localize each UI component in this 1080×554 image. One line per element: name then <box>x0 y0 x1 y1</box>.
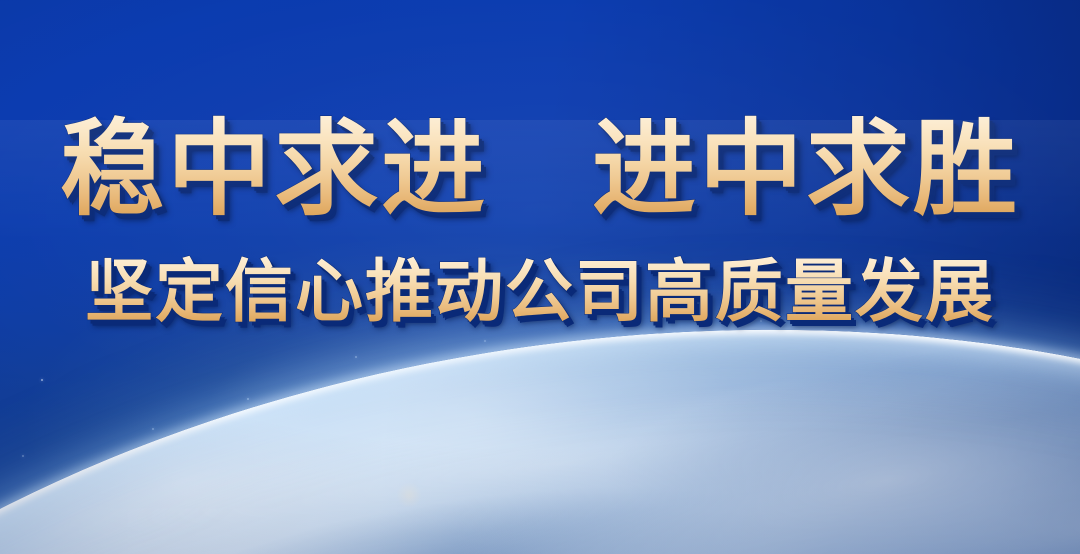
headline-part-1: 稳中求进 稳中求进 <box>60 118 488 222</box>
headline-part-1-shadow: 稳中求进 <box>60 118 488 222</box>
headline-part-2-face: 进中求胜 <box>592 112 1020 228</box>
earth-globe <box>0 194 1080 554</box>
headline-part-1-face: 稳中求进 <box>60 112 488 228</box>
poster-banner: 稳中求进 稳中求进 进中求胜 进中求胜 坚定信心推动公司高质量发展 坚定信心推动… <box>0 0 1080 554</box>
headline-part-2-shadow: 进中求胜 <box>592 118 1020 222</box>
page-title: 稳中求进 稳中求进 进中求胜 进中求胜 <box>0 118 1080 222</box>
headline-part-2: 进中求胜 进中求胜 <box>592 118 1020 222</box>
earth-rim-light <box>0 194 1080 554</box>
subline-face: 坚定信心推动公司高质量发展 <box>85 254 995 330</box>
text-sheen <box>0 120 1080 340</box>
subline-text: 坚定信心推动公司高质量发展 坚定信心推动公司高质量发展 <box>85 258 995 326</box>
subline-shadow: 坚定信心推动公司高质量发展 <box>85 258 995 326</box>
page-subtitle: 坚定信心推动公司高质量发展 坚定信心推动公司高质量发展 <box>0 258 1080 326</box>
